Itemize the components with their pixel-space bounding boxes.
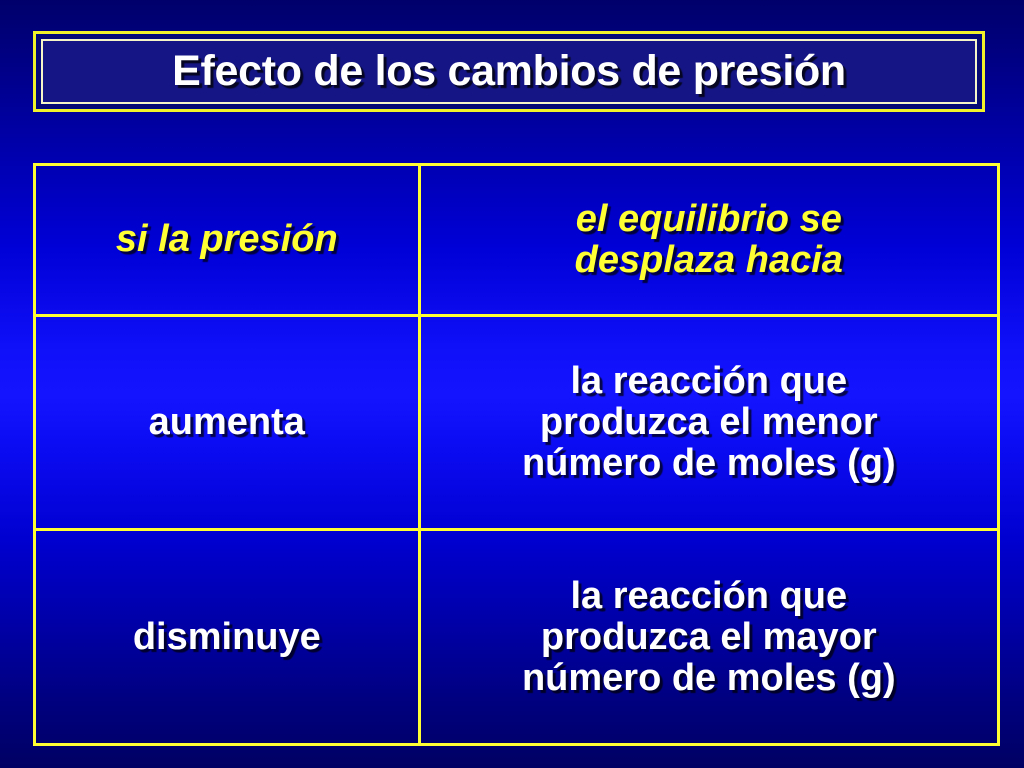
pressure-effect-table-wrapper: si la presión el equilibrio se desplaza … <box>33 163 1000 746</box>
table-header-cell-condition: si la presión <box>35 165 420 316</box>
table-cell-result-decrease: la reacción que produzca el mayor número… <box>419 530 998 745</box>
title-plaque: Efecto de los cambios de presión <box>33 31 985 112</box>
table-header-cell-result: el equilibrio se desplaza hacia <box>419 165 998 316</box>
title-plaque-border-gap: Efecto de los cambios de presión <box>38 36 980 107</box>
table-row: disminuye la reacción que produzca el ma… <box>35 530 999 745</box>
page-title: Efecto de los cambios de presión <box>172 50 846 93</box>
table-cell-condition-decrease: disminuye <box>35 530 420 745</box>
header-result-label-line1: el equilibrio se <box>429 199 989 240</box>
pressure-effect-table: si la presión el equilibrio se desplaza … <box>33 163 1000 746</box>
table-cell-condition-increase: aumenta <box>35 315 420 530</box>
slide-canvas: Efecto de los cambios de presión si la p… <box>0 0 1024 768</box>
result-increase-line1: la reacción que <box>429 361 989 402</box>
result-increase-line2: produzca el menor <box>429 402 989 443</box>
result-decrease-line1: la reacción que <box>429 576 989 617</box>
header-result-label-line2: desplaza hacia <box>429 240 989 281</box>
table-row: aumenta la reacción que produzca el meno… <box>35 315 999 530</box>
header-condition-label: si la presión <box>44 219 410 260</box>
result-decrease-line2: produzca el mayor <box>429 617 989 658</box>
result-increase-line3: número de moles (g) <box>429 443 989 484</box>
condition-decrease-label: disminuye <box>44 617 410 658</box>
table-cell-result-increase: la reacción que produzca el menor número… <box>419 315 998 530</box>
condition-increase-label: aumenta <box>44 402 410 443</box>
title-plaque-inner: Efecto de los cambios de presión <box>41 39 977 104</box>
table-header-row: si la presión el equilibrio se desplaza … <box>35 165 999 316</box>
result-decrease-line3: número de moles (g) <box>429 658 989 699</box>
